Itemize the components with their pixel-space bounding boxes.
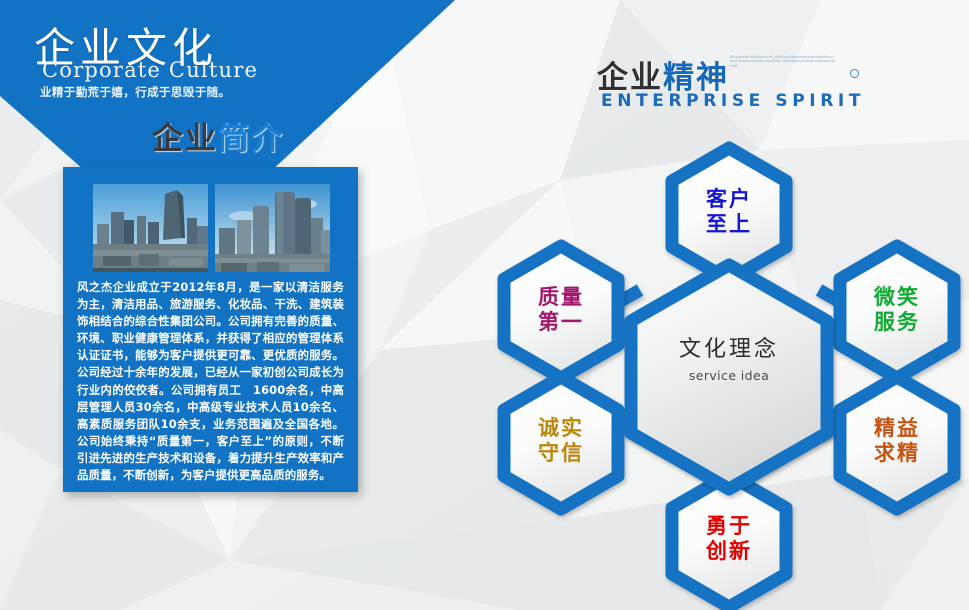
hex-top-left [504, 246, 618, 378]
culture-hexagon-diagram: 客户 至上 微笑 服务 精益 求精 勇于 创新 诚实 守信 质量 第一 文化理念… [490, 115, 969, 610]
banner-title-en: Corporate Culture [42, 58, 258, 82]
hex-bottom-right [840, 377, 954, 509]
banner-subtitle: 业精于勤荒于嬉，行成于思毁于随。 [40, 84, 230, 100]
circle-dot-icon [850, 69, 859, 78]
spirit-decorative-text: dfhdjanvwhfdjkkfjwcnvdkl dfidfjant1dfsfc… [730, 55, 835, 77]
hex-top-right [840, 246, 954, 378]
spirit-heading-group: 企业精神 dfhdjanvwhfdjkkfjwcnvdkl dfidfjant1… [597, 52, 897, 112]
spirit-heading-en: ENTERPRISE SPIRIT [601, 91, 865, 111]
intro-body-text: 风之杰企业成立于2012年8月，是一家以清洁服务为主，清洁用品、旅游服务、化妆品… [77, 279, 344, 484]
city-skyline-photo [93, 184, 208, 272]
intro-heading: 企业简介 [152, 113, 284, 158]
intro-card: 风之杰企业成立于2012年8月，是一家以清洁服务为主，清洁用品、旅游服务、化妆品… [63, 167, 358, 492]
poster-canvas: 企业文化 Corporate Culture 业精于勤荒于嬉，行成于思毁于随。 … [0, 0, 969, 610]
hex-center-title: 文化理念 [649, 331, 809, 363]
hex-center-subtitle: service idea [649, 368, 809, 383]
intro-photo-row [93, 184, 330, 272]
intro-heading-blue: 简介 [218, 121, 284, 157]
intro-heading-dark: 企业 [152, 121, 218, 157]
office-towers-photo [215, 184, 330, 272]
hex-bottom-left [504, 377, 618, 509]
